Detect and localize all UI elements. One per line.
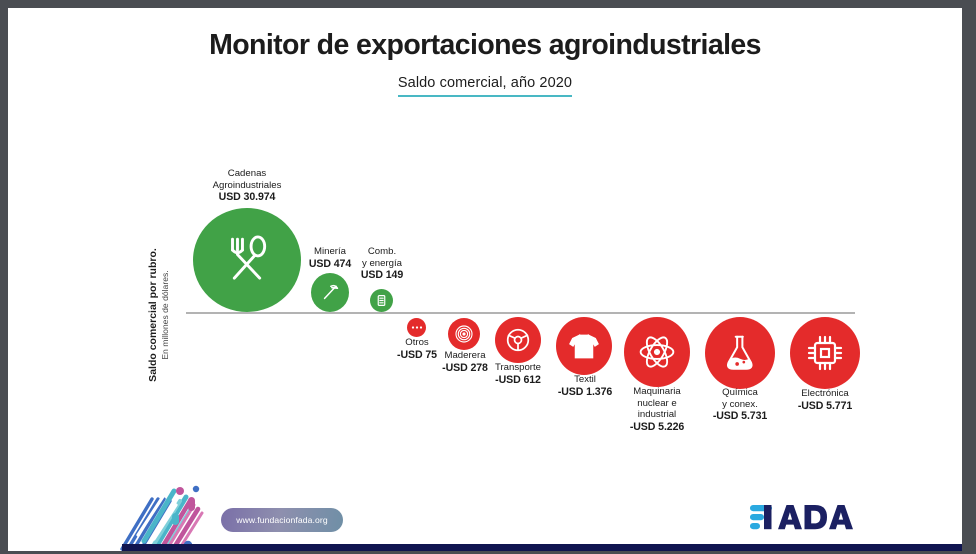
bubble-chart: Cadenas Agroindustriales USD 30.974 (8, 8, 962, 551)
battery-icon (376, 294, 387, 307)
label-combustibles: Comb. y energía USD 149 (348, 246, 416, 282)
slide-canvas: Monitor de exportaciones agroindustriale… (8, 8, 962, 551)
fada-logo (748, 498, 866, 534)
value-maquinaria: -USD 5.226 (615, 421, 699, 434)
label-cadenas-line2: Agroindustriales (193, 180, 301, 192)
bubble-otros[interactable] (407, 318, 426, 337)
bubble-transporte[interactable] (495, 317, 541, 363)
label-transporte-line1: Transporte (481, 362, 555, 374)
label-electronica: Electrónica -USD 5.771 (786, 388, 864, 413)
decorative-stripes-graphic (120, 479, 230, 551)
label-transporte: Transporte -USD 612 (481, 362, 555, 387)
footer-navy-bar (122, 544, 962, 551)
bubble-maderera[interactable] (448, 318, 480, 350)
bubble-combustibles[interactable] (370, 289, 393, 312)
fork-spoon-icon (218, 231, 276, 289)
microchip-icon (805, 333, 845, 373)
bubble-textil[interactable] (556, 317, 612, 375)
value-transporte: -USD 612 (481, 374, 555, 387)
label-quimica-line1: Química (701, 387, 779, 399)
bubble-maquinaria[interactable] (624, 317, 690, 387)
tree-rings-icon (454, 324, 474, 344)
value-combustibles: USD 149 (348, 269, 416, 282)
label-textil: Textil -USD 1.376 (546, 374, 624, 399)
label-maquinaria-line3: industrial (615, 409, 699, 421)
website-url-label: www.fundacionfada.org (236, 515, 327, 525)
value-electronica: -USD 5.771 (786, 400, 864, 413)
pickaxe-icon (320, 282, 341, 303)
label-textil-line1: Textil (546, 374, 624, 386)
chart-baseline (186, 312, 855, 314)
bubble-quimica[interactable] (705, 317, 775, 389)
tshirt-icon (567, 331, 601, 362)
label-otros-line1: Otros (382, 337, 452, 349)
label-combustibles-line2: y energía (348, 258, 416, 270)
bubble-electronica[interactable] (790, 317, 860, 389)
label-quimica-line2: y conex. (701, 399, 779, 411)
ellipsis-icon (411, 325, 423, 330)
label-cadenas: Cadenas Agroindustriales USD 30.974 (193, 168, 301, 204)
value-textil: -USD 1.376 (546, 386, 624, 399)
label-cadenas-line1: Cadenas (193, 168, 301, 180)
steering-wheel-icon (504, 326, 532, 354)
label-combustibles-line1: Comb. (348, 246, 416, 258)
presentation-viewer: Monitor de exportaciones agroindustriale… (0, 0, 976, 554)
bubble-mineria[interactable] (311, 273, 349, 312)
value-cadenas: USD 30.974 (193, 191, 301, 204)
label-maquinaria-line2: nuclear e (615, 398, 699, 410)
value-quimica: -USD 5.731 (701, 410, 779, 423)
website-url-button[interactable]: www.fundacionfada.org (221, 508, 343, 532)
label-maquinaria: Maquinaria nuclear e industrial -USD 5.2… (615, 386, 699, 434)
label-quimica: Química y conex. -USD 5.731 (701, 387, 779, 423)
atom-icon (637, 332, 677, 372)
flask-icon (721, 333, 759, 373)
label-maquinaria-line1: Maquinaria (615, 386, 699, 398)
label-maderera-line1: Maderera (427, 350, 503, 362)
bubble-cadenas[interactable] (193, 208, 301, 312)
label-electronica-line1: Electrónica (786, 388, 864, 400)
